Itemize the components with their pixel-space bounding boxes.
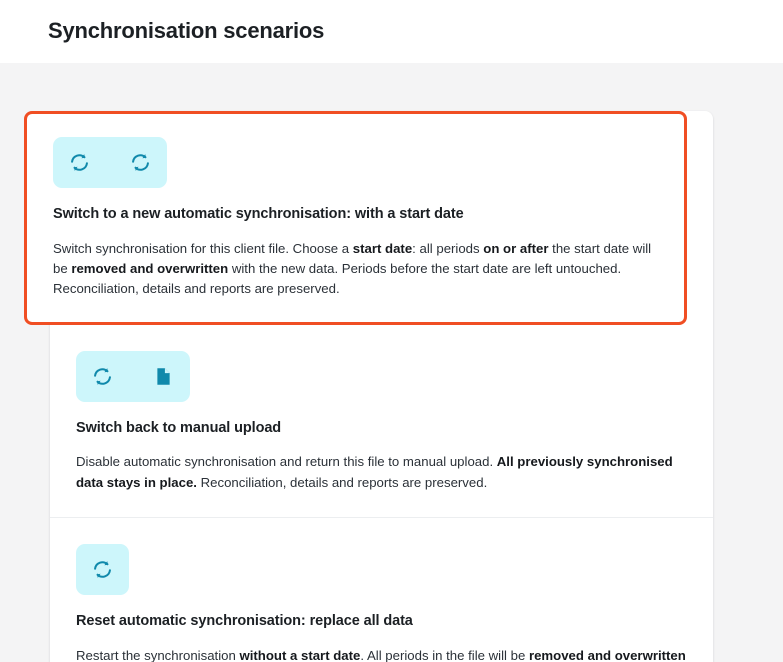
description-text: Switch synchronisation for this client f… bbox=[53, 241, 353, 256]
description-emphasis: without a start date bbox=[239, 648, 360, 662]
scenario-title: Switch to a new automatic synchronisatio… bbox=[53, 205, 658, 225]
scenario-card-switch-new-auto-sync-with-start-date[interactable]: Switch to a new automatic synchronisatio… bbox=[24, 111, 687, 325]
page-title: Synchronisation scenarios bbox=[48, 18, 324, 44]
description-text: Reconciliation, details and reports are … bbox=[197, 475, 487, 490]
scenario-title: Reset automatic synchronisation: replace… bbox=[76, 612, 687, 632]
scenarios-panel: Switch to a new automatic synchronisatio… bbox=[50, 111, 713, 662]
description-text: : all periods bbox=[412, 241, 483, 256]
page-header: Synchronisation scenarios bbox=[0, 0, 783, 63]
description-emphasis: removed and overwritten bbox=[529, 648, 686, 662]
scenario-icon-badge bbox=[76, 351, 190, 402]
description-emphasis: removed and overwritten bbox=[71, 261, 228, 276]
description-emphasis: start date bbox=[353, 241, 412, 256]
sync-icon bbox=[69, 152, 90, 173]
scenario-card-switch-back-to-manual-upload[interactable]: Switch back to manual uploadDisable auto… bbox=[50, 325, 713, 517]
description-text: Restart the synchronisation bbox=[76, 648, 239, 662]
description-text: . All periods in the file will be bbox=[360, 648, 529, 662]
sync-icon bbox=[92, 366, 113, 387]
scenario-description: Switch synchronisation for this client f… bbox=[53, 239, 658, 300]
sync-icon bbox=[92, 559, 113, 580]
scenario-description: Restart the synchronisation without a st… bbox=[76, 646, 687, 662]
sync-icon bbox=[130, 152, 151, 173]
scenario-icon-badge bbox=[76, 544, 129, 595]
page-body: Switch to a new automatic synchronisatio… bbox=[0, 63, 783, 662]
scenario-list: Switch to a new automatic synchronisatio… bbox=[50, 111, 713, 662]
scenario-card-reset-auto-sync-replace-all-data[interactable]: Reset automatic synchronisation: replace… bbox=[50, 517, 713, 662]
description-text: Disable automatic synchronisation and re… bbox=[76, 454, 497, 469]
description-emphasis: on or after bbox=[483, 241, 548, 256]
document-icon bbox=[153, 366, 174, 387]
scenario-icon-badge bbox=[53, 137, 167, 188]
scenario-description: Disable automatic synchronisation and re… bbox=[76, 452, 687, 493]
scenario-title: Switch back to manual upload bbox=[76, 419, 687, 439]
